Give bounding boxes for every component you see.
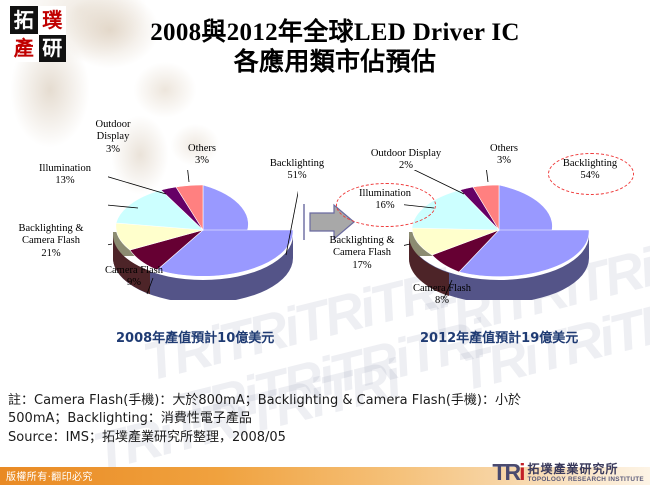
tri-wordmark-tr: TR [492, 459, 519, 485]
logo-char-4: 研 [39, 35, 67, 63]
footnote-line-2: 500mA；Backlighting：消費性電子產品 [8, 410, 628, 428]
charts-container: Outdoor Display 3% Illumination 13% Back… [0, 105, 650, 355]
label-camera-flash-2008: Camera Flash 9% [94, 265, 174, 290]
label-camera-flash-2012: Camera Flash 8% [402, 283, 482, 308]
label-illumination-2012: Illumination 16% [345, 188, 425, 213]
tri-square-logo: 拓 璞 產 研 [10, 6, 66, 62]
tri-name-en: TOPOLOGY RESEARCH INSTITUTE [527, 477, 644, 483]
label-outdoor-display-2012: Outdoor Display 2% [358, 148, 454, 173]
logo-char-3: 產 [10, 35, 38, 63]
tri-wordmark-i: i [519, 459, 523, 485]
leader-line-outdoor [108, 170, 166, 194]
logo-char-1: 拓 [10, 6, 38, 34]
tri-name-block: 拓墣產業研究所 TOPOLOGY RESEARCH INSTITUTE [527, 463, 644, 484]
page-title: 2008與2012年全球LED Driver IC 各應用類市佔預估 [95, 18, 575, 77]
footnote-block: 註：Camera Flash(手機)：大於800mA；Backlighting … [8, 392, 628, 447]
pie-chart-2012 [404, 170, 594, 300]
label-bcf-2008: Backlighting & Camera Flash 21% [8, 223, 94, 260]
caption-2012: 2012年產值預計19億美元 [420, 327, 578, 346]
page-title-line1: 2008與2012年全球LED Driver IC [95, 18, 575, 48]
tri-name-cn: 拓墣產業研究所 [527, 463, 644, 475]
page-title-line2: 各應用類市佔預估 [95, 48, 575, 78]
leader-line-bcf [108, 244, 112, 254]
footnote-line-1: 註：Camera Flash(手機)：大於800mA；Backlighting … [8, 392, 628, 410]
leader-line-others [187, 170, 189, 182]
label-others-2012: Others 3% [480, 143, 528, 168]
tri-wordmark: TRi [492, 461, 523, 484]
caption-2008: 2008年產值預計10億美元 [116, 327, 274, 346]
label-illumination-2008: Illumination 13% [26, 163, 104, 188]
slide-root: TRiTRiTRiTRi TRiTRiTRiTRi TRiTRiTRiTRi T… [0, 0, 650, 485]
leader-line-others [486, 170, 488, 182]
footnote-line-3: Source：IMS；拓墣產業研究所整理，2008/05 [8, 429, 628, 447]
tri-footer-logo: TRi 拓墣產業研究所 TOPOLOGY RESEARCH INSTITUTE [492, 458, 644, 484]
label-others-2008: Others 3% [178, 143, 226, 168]
label-bcf-2012: Backlighting & Camera Flash 17% [318, 235, 406, 272]
logo-char-2: 璞 [39, 6, 67, 34]
label-outdoor-display-2008: Outdoor Display 3% [78, 119, 148, 156]
label-backlighting-2008: Backlighting 51% [258, 158, 336, 183]
label-backlighting-2012: Backlighting 54% [552, 158, 628, 183]
copyright-text: 版權所有‧翻印必究 [6, 468, 93, 483]
